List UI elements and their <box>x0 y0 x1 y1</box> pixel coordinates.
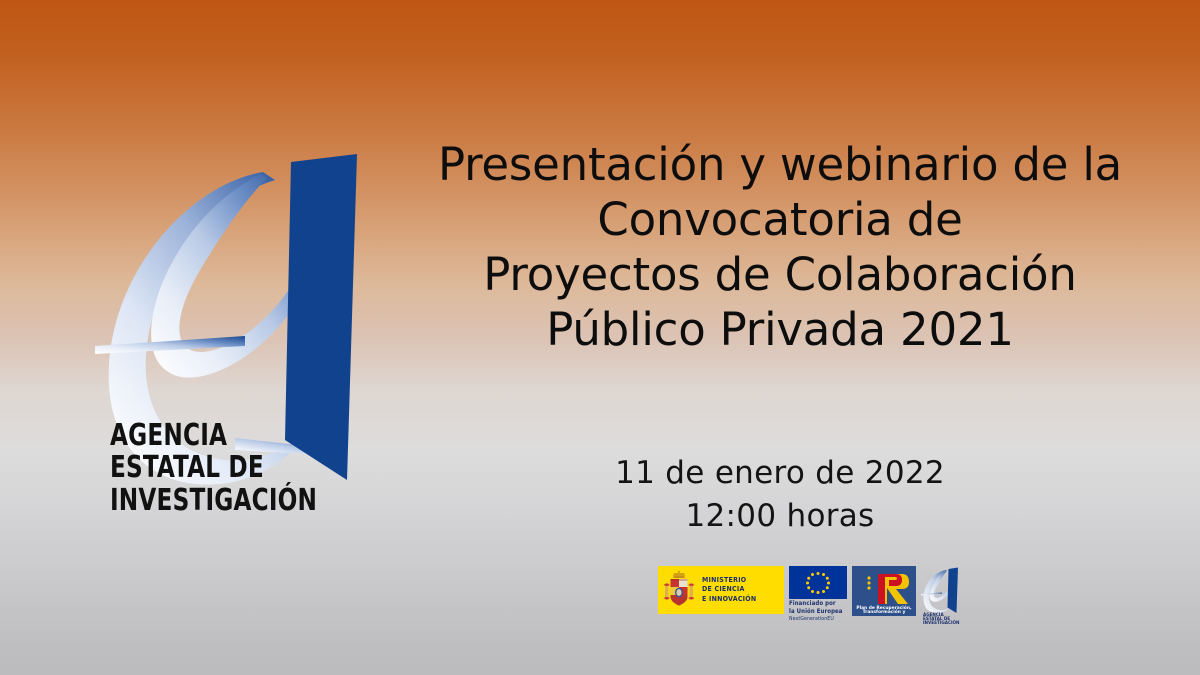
title-line-1: Presentación y webinario de la <box>380 138 1180 193</box>
title-line-4: Público Privada 2021 <box>380 303 1180 358</box>
eu-nextgeneration-label: NextGenerationEU <box>789 616 847 623</box>
event-datetime: 11 de enero de 2022 12:00 horas <box>380 452 1180 538</box>
ministerio-line-1: MINISTERIO <box>702 576 756 585</box>
aei-wordmark: AGENCIA ESTATAL DE INVESTIGACIÓN <box>110 420 308 517</box>
spanish-coat-of-arms-icon <box>662 570 696 610</box>
eu-logo-text: Financiado por la Unión Europea NextGene… <box>789 600 847 622</box>
page-title: Presentación y webinario de la Convocato… <box>380 138 1180 358</box>
union-europea-logo: Financiado por la Unión Europea NextGene… <box>789 566 847 622</box>
title-line-3: Proyectos de Colaboración <box>380 248 1180 303</box>
aei-wordmark-line-2: ESTATAL DE <box>110 452 308 484</box>
aei-wordmark-line-1: AGENCIA <box>110 420 308 452</box>
prtr-line-2: Transformación y <box>863 608 906 615</box>
event-time: 12:00 horas <box>380 495 1180 538</box>
eu-line-1: Financiado por <box>789 600 847 608</box>
ministerio-line-3: E INNOVACIÓN <box>702 595 756 604</box>
eu-line-2: la Unión Europea <box>789 608 847 616</box>
ministerio-ciencia-innovacion-logo: MINISTERIO DE CIENCIA E INNOVACIÓN <box>658 566 784 614</box>
title-line-2: Convocatoria de <box>380 193 1180 248</box>
eu-flag-icon <box>789 566 847 599</box>
plan-recuperacion-logo: Plan de Recuperación, Transformación y <box>852 566 916 616</box>
aei-logo-small: AGENCIA ESTATAL DE INVESTIGACIÓN <box>921 566 961 624</box>
aei-small-wedge <box>948 568 959 614</box>
footer-logo-strip: MINISTERIO DE CIENCIA E INNOVACIÓN <box>658 566 961 626</box>
aei-wordmark-line-3: INVESTIGACIÓN <box>110 485 308 517</box>
ministerio-logo-text: MINISTERIO DE CIENCIA E INNOVACIÓN <box>702 576 756 604</box>
ministerio-line-2: DE CIENCIA <box>702 585 756 594</box>
presentation-slide: AGENCIA ESTATAL DE INVESTIGACIÓN Present… <box>0 0 1200 675</box>
event-date: 11 de enero de 2022 <box>380 452 1180 495</box>
